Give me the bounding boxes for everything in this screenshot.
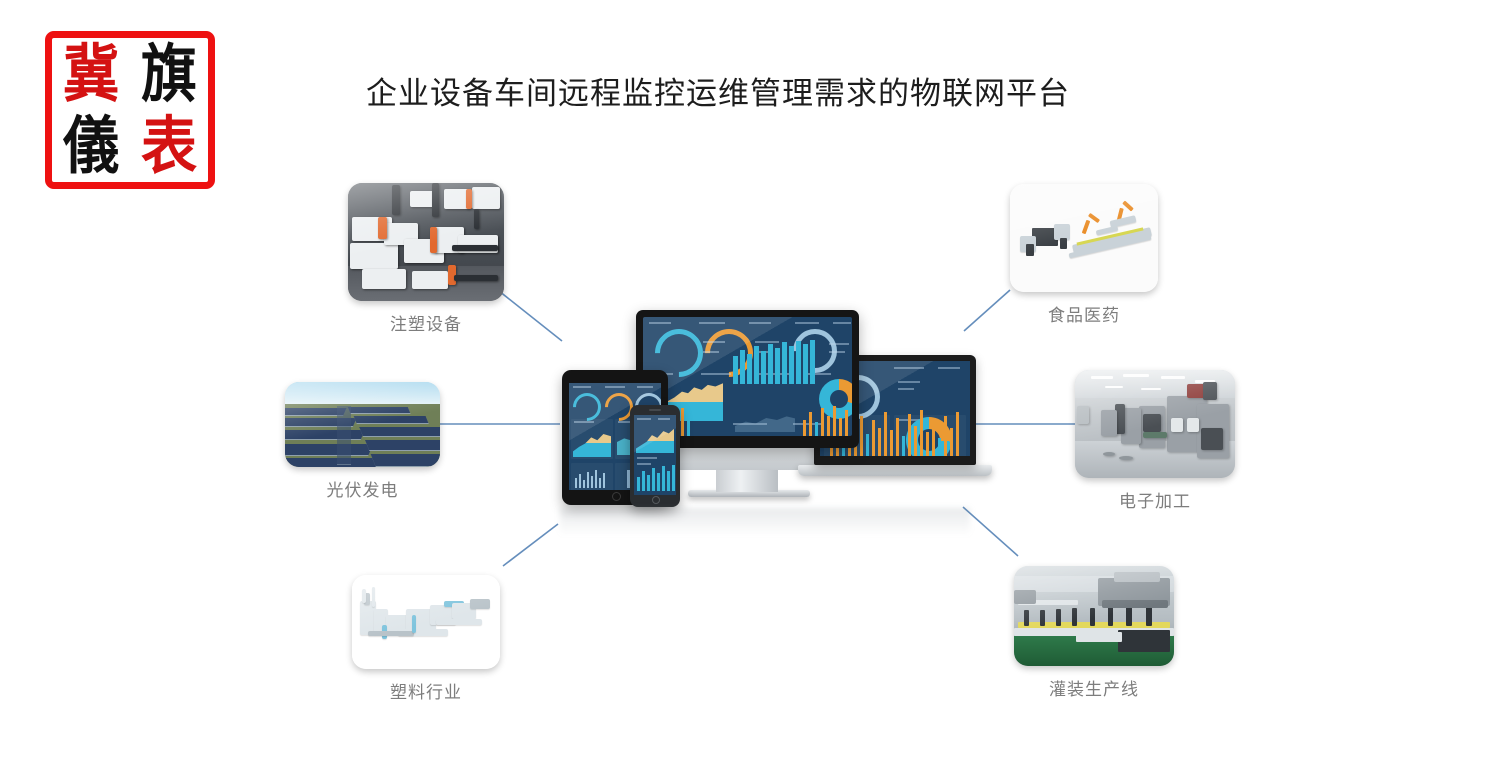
device-reflection (560, 508, 970, 536)
scene-filling-line (1014, 566, 1174, 666)
connector-plastics (503, 524, 558, 566)
thumb-food-pharma (1010, 184, 1158, 292)
logo-char-4: 表 (141, 115, 197, 178)
scene-electronics (1075, 370, 1235, 478)
company-logo: 冀 旗 儀 表 (45, 31, 215, 189)
node-electronics[interactable]: 电子加工 (1075, 370, 1235, 512)
node-plastics[interactable]: 塑料行业 (352, 575, 500, 703)
scene-photovoltaic (285, 382, 440, 467)
scene-food-pharma (1010, 184, 1158, 292)
phone-speaker (649, 409, 661, 411)
thumb-injection-molding (348, 183, 504, 301)
phone-home-button[interactable] (652, 496, 660, 504)
phone-dashboard (634, 415, 676, 495)
node-injection-molding[interactable]: 注塑设备 (348, 183, 504, 335)
logo-char-3: 儀 (63, 115, 119, 178)
thumb-filling-line (1014, 566, 1174, 666)
thumb-plastics (352, 575, 500, 669)
node-label-plastics: 塑料行业 (352, 678, 500, 703)
node-photovoltaic[interactable]: 光伏发电 (285, 382, 440, 501)
logo-char-2: 旗 (141, 43, 197, 106)
page-title: 企业设备车间远程监控运维管理需求的物联网平台 (366, 68, 1196, 113)
node-label-photovoltaic: 光伏发电 (285, 476, 440, 501)
thumb-electronics (1075, 370, 1235, 478)
node-label-food-pharma: 食品医药 (1010, 301, 1158, 326)
thumb-photovoltaic (285, 382, 440, 467)
device-cluster (548, 300, 978, 515)
monitor-neck (716, 470, 778, 492)
scene-injection-molding (348, 183, 504, 301)
node-label-electronics: 电子加工 (1075, 487, 1235, 512)
node-label-filling-line: 灌装生产线 (1014, 675, 1174, 700)
node-filling-line[interactable]: 灌装生产线 (1014, 566, 1174, 700)
scene-plastics (352, 575, 500, 669)
logo-char-1: 冀 (63, 43, 119, 106)
node-label-injection-molding: 注塑设备 (348, 310, 504, 335)
device-phone[interactable] (630, 405, 680, 507)
tablet-home-button[interactable] (612, 492, 621, 501)
phone-screen (634, 415, 676, 495)
laptop-base (798, 465, 992, 476)
node-food-pharma[interactable]: 食品医药 (1010, 184, 1158, 326)
